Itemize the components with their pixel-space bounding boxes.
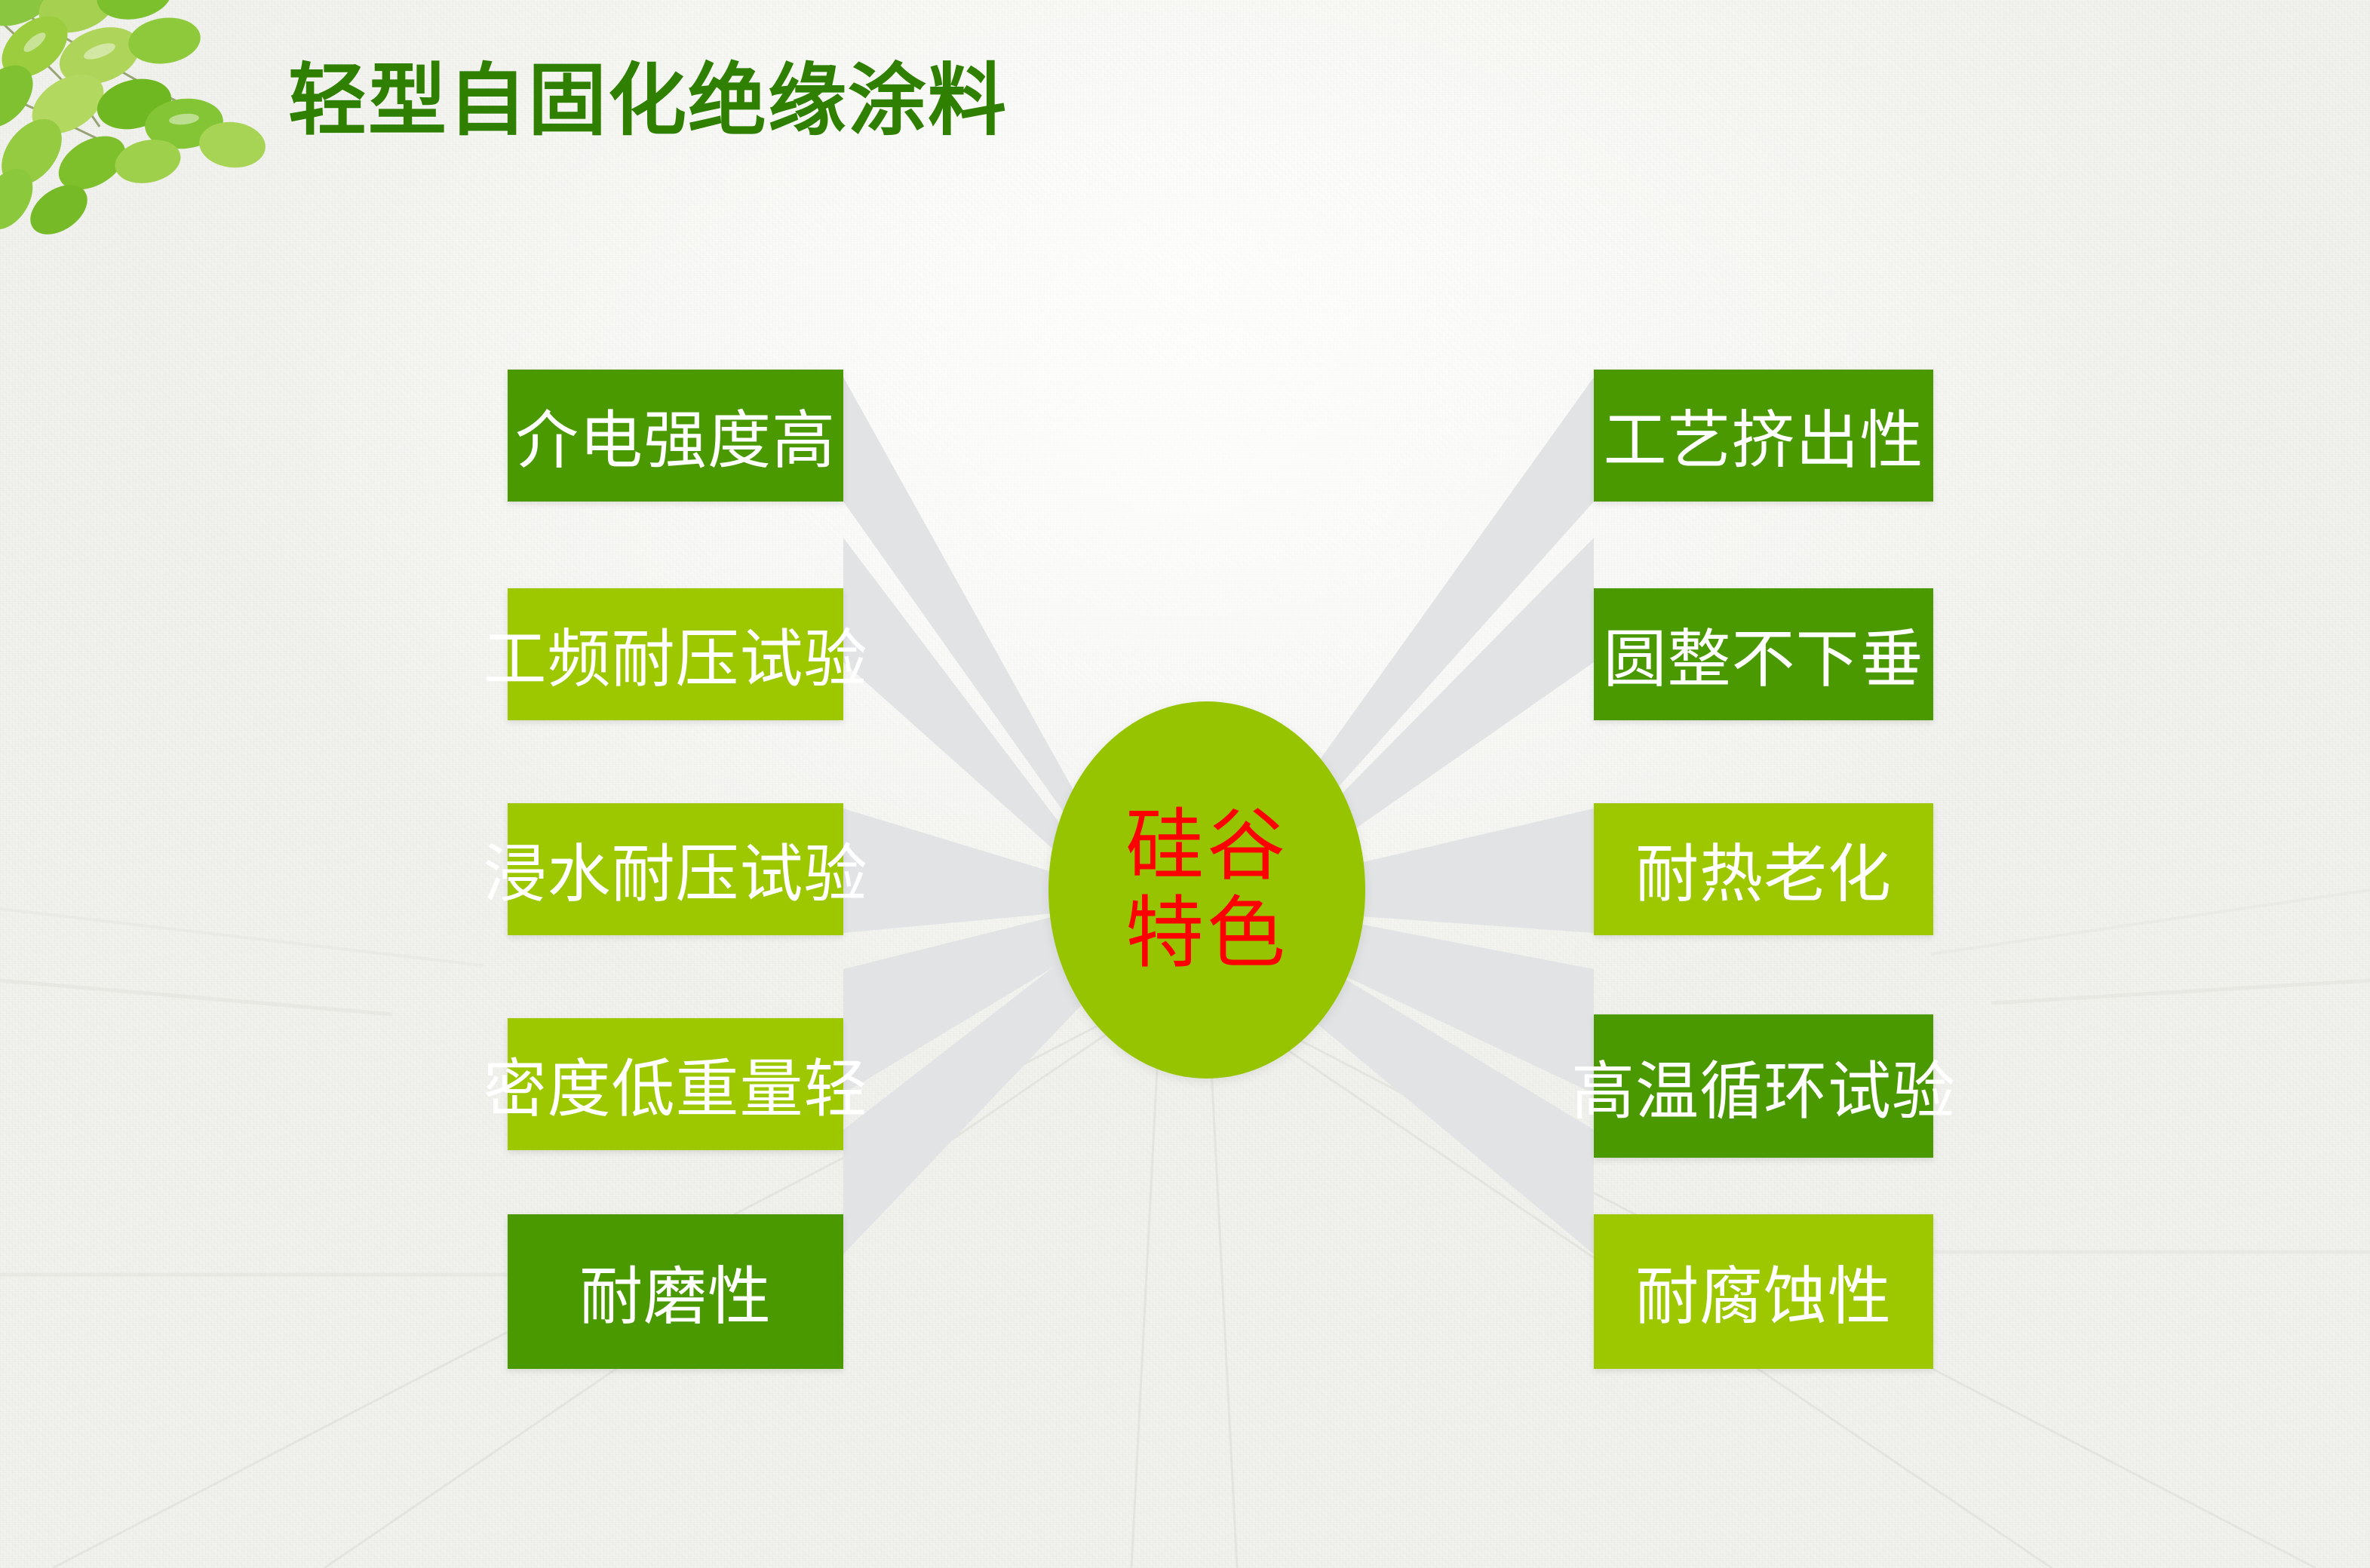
feature-box-left-5[interactable]: 耐磨性 bbox=[508, 1214, 843, 1369]
feature-label: 耐腐蚀性 bbox=[1635, 1246, 1892, 1337]
feature-label: 圆整不下垂 bbox=[1603, 609, 1923, 700]
feature-label: 工艺挤出性 bbox=[1603, 390, 1923, 481]
feature-label: 浸水耐压试验 bbox=[484, 824, 868, 915]
feature-box-left-2[interactable]: 工频耐压试验 bbox=[508, 588, 843, 720]
feature-label: 高温循环试验 bbox=[1571, 1041, 1956, 1132]
feature-label: 工频耐压试验 bbox=[484, 609, 868, 700]
feature-box-right-1[interactable]: 工艺挤出性 bbox=[1594, 370, 1933, 502]
feature-box-right-3[interactable]: 耐热老化 bbox=[1594, 803, 1933, 935]
feature-label: 耐热老化 bbox=[1635, 824, 1892, 915]
center-label-line2: 特色 bbox=[1125, 890, 1288, 977]
feature-label: 耐磨性 bbox=[579, 1246, 772, 1337]
feature-label: 介电强度高 bbox=[515, 390, 836, 481]
feature-box-right-2[interactable]: 圆整不下垂 bbox=[1594, 588, 1933, 720]
feature-box-right-4[interactable]: 高温循环试验 bbox=[1594, 1014, 1933, 1158]
center-label-line1: 硅谷 bbox=[1125, 802, 1288, 890]
feature-label: 密度低重量轻 bbox=[484, 1039, 868, 1130]
center-node[interactable]: 硅谷 特色 bbox=[1048, 701, 1365, 1079]
feature-box-left-3[interactable]: 浸水耐压试验 bbox=[508, 803, 843, 935]
feature-box-right-5[interactable]: 耐腐蚀性 bbox=[1594, 1214, 1933, 1369]
slide-canvas: 轻型自固化绝缘涂料 介电强度高 工频耐压试验 浸水耐压试验 密度低重量轻 耐磨性 bbox=[0, 0, 2370, 1568]
feature-box-left-4[interactable]: 密度低重量轻 bbox=[508, 1018, 843, 1150]
feature-box-left-1[interactable]: 介电强度高 bbox=[508, 370, 843, 502]
